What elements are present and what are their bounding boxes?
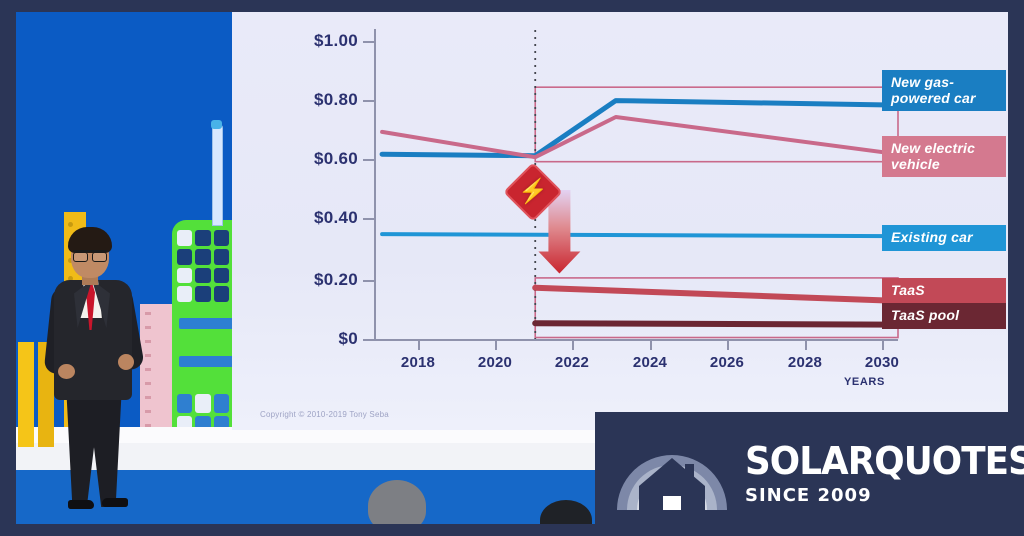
slide-chart-panel: $1.00 $0.80 $0.60 $0.40 $0.20 $0 2018 20…	[232, 12, 1008, 430]
legend-new-gas-powered-car[interactable]: New gas-powered car	[882, 70, 1006, 111]
stage-prop-phone-antenna	[212, 124, 223, 226]
presenter-hand-left	[58, 364, 75, 379]
stage-prop-yellow-block-a	[18, 342, 34, 447]
presenter-hand-right	[118, 354, 134, 370]
legend-existing-car[interactable]: Existing car	[882, 225, 1006, 251]
legend-taas-pool[interactable]: TaaS pool	[882, 303, 1006, 329]
stage-prop-pink-building	[140, 304, 176, 439]
legend-new-electric-vehicle[interactable]: New electric vehicle	[882, 136, 1006, 177]
audience-head	[368, 480, 426, 524]
presenter-shoe-left	[68, 500, 94, 509]
stage-prop-phone-antenna-tip	[211, 120, 222, 129]
legend-taas[interactable]: TaaS	[882, 278, 1006, 304]
brand-name: SOLARQUOTES®	[745, 442, 1024, 480]
lightning-bolt-icon: ⚡	[512, 171, 554, 213]
solarquotes-logo-overlay: SOLARQUOTES® SINCE 2009	[595, 412, 1024, 536]
copyright-notice: Copyright © 2010-2019 Tony Seba	[260, 410, 389, 419]
brand-tagline: SINCE 2009	[745, 485, 1024, 506]
solarquotes-house-sun-icon	[613, 438, 731, 510]
presenter-shoe-right	[102, 498, 128, 507]
video-frame: $1.00 $0.80 $0.60 $0.40 $0.20 $0 2018 20…	[0, 0, 1024, 536]
brand-wordmark: SOLARQUOTES	[745, 439, 1024, 483]
glasses-icon	[73, 250, 107, 260]
